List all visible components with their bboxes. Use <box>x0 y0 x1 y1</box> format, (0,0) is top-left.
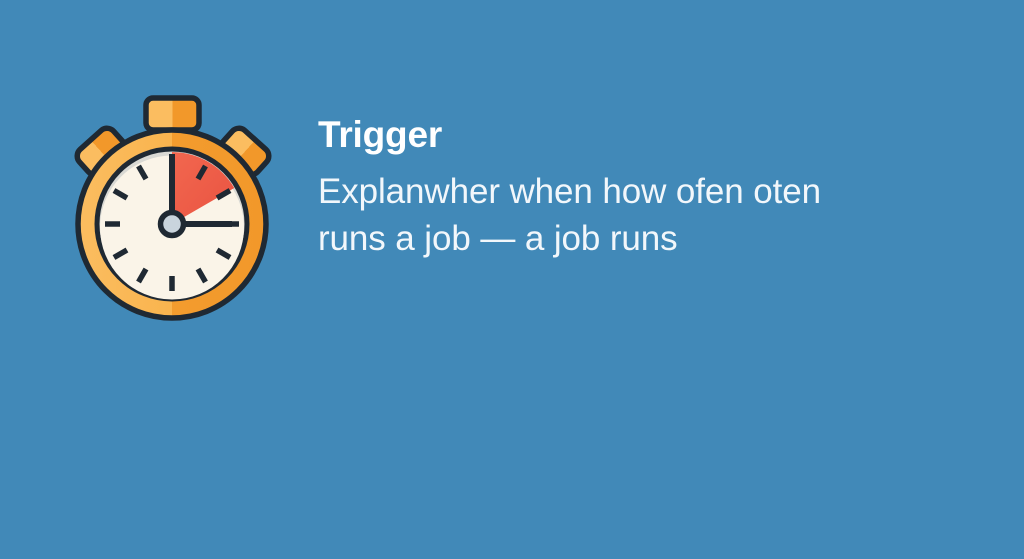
slide-canvas: Trigger Explanwher when how ofen oten ru… <box>0 0 1024 559</box>
stopwatch-icon <box>56 80 296 330</box>
stopwatch-icon-svg <box>56 80 296 330</box>
body-description: Explanwher when how ofen oten runs a job… <box>318 168 848 262</box>
page-title: Trigger <box>318 112 938 158</box>
text-block: Trigger Explanwher when how ofen oten ru… <box>318 112 938 262</box>
center-hub <box>161 213 184 236</box>
